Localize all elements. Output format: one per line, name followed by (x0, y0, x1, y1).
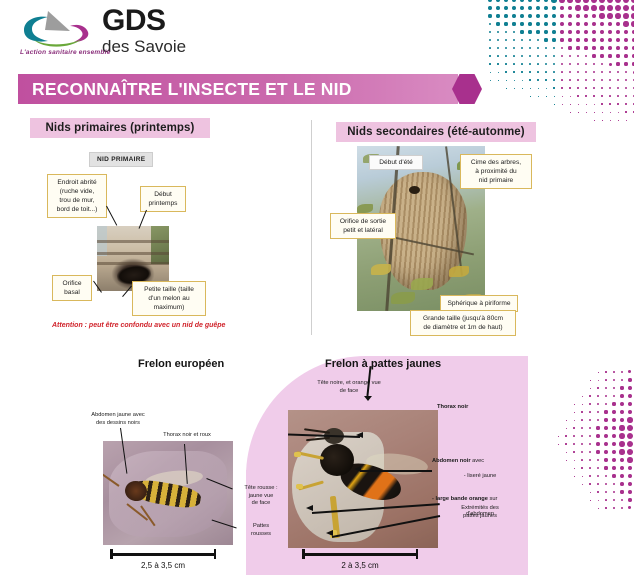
halftone-dot (613, 499, 615, 501)
halftone-dot (553, 87, 554, 88)
arrow-thorax-tip (356, 432, 363, 438)
halftone-dot (601, 71, 604, 74)
halftone-dot (620, 474, 624, 478)
halftone-dot (536, 0, 541, 2)
halftone-dot (612, 410, 616, 414)
halftone-dot (627, 449, 633, 455)
halftone-dot (561, 47, 564, 50)
nest-exit-hole (409, 186, 420, 194)
halftone-dot (585, 55, 588, 58)
halftone-dot (569, 87, 570, 88)
abdomen-bullet-1: - liseré jaune (432, 473, 528, 481)
halftone-dot (618, 112, 619, 113)
halftone-dot (504, 6, 508, 10)
halftone-dot (496, 14, 499, 17)
halftone-dot (497, 55, 499, 57)
halftone-dot (553, 47, 556, 50)
halftone-dot (497, 31, 500, 34)
halftone-dot (528, 22, 532, 26)
halftone-dot (512, 14, 516, 18)
halftone-dot (520, 30, 523, 33)
halftone-dot (568, 14, 573, 19)
halftone-dot (624, 46, 628, 50)
halftone-dot (592, 38, 596, 42)
halftone-dot (592, 14, 597, 19)
halftone-dot (544, 22, 548, 26)
halftone-dot (618, 120, 619, 121)
halftone-dot (600, 54, 603, 57)
halftone-dot (612, 442, 617, 447)
halftone-dot (617, 79, 619, 81)
halftone-dot (581, 435, 583, 437)
halftone-dot (625, 95, 627, 97)
halftone-dot (551, 0, 556, 3)
halftone-dot (605, 379, 607, 381)
halftone-dot (604, 410, 607, 413)
halftone-dot (490, 72, 491, 73)
halftone-dot (498, 72, 499, 73)
halftone-dot (599, 0, 605, 3)
halftone-dot (627, 425, 633, 431)
halftone-dot (537, 55, 539, 57)
halftone-dot (488, 6, 492, 10)
scale-bar-line-asian (302, 553, 418, 556)
callout-lateral-exit-hole: Orifice de sortie petit et latéral (330, 213, 396, 239)
halftone-dot (577, 79, 579, 81)
halftone-dot (489, 39, 491, 41)
halftone-dot (569, 79, 571, 81)
halftone-dot (628, 466, 633, 471)
halftone-dot (569, 55, 572, 58)
halftone-dot (616, 38, 620, 42)
section-heading-asian-hornet: Frelon à pattes jaunes (325, 358, 441, 370)
halftone-dot (625, 103, 626, 104)
halftone-dot (553, 79, 554, 80)
halftone-dot (612, 466, 616, 470)
halftone-dot (624, 30, 629, 35)
halftone-dot (589, 395, 590, 396)
halftone-dot (591, 5, 596, 10)
annotation-head-russet: Tête rousse : jaune vue de face (236, 485, 286, 508)
halftone-dot (568, 30, 572, 34)
halftone-dot (621, 379, 624, 382)
halftone-dot (505, 31, 508, 34)
halftone-dot (613, 483, 616, 486)
halftone-dot (489, 23, 492, 26)
halftone-dot (574, 468, 575, 469)
halftone-dot (513, 55, 515, 57)
halftone-dot (544, 6, 549, 11)
scale-bar-cap-left (110, 549, 113, 559)
halftone-dot (613, 379, 615, 381)
halftone-dot (613, 491, 616, 494)
halftone-dot (545, 71, 547, 73)
halftone-dot (589, 411, 591, 413)
halftone-dot (576, 46, 579, 49)
halftone-dot (498, 80, 499, 81)
halftone-dot (612, 402, 615, 405)
halftone-dot (520, 22, 523, 25)
halftone-dot (609, 103, 610, 104)
abdomen-bullet-2: - large bande orange sur (432, 489, 528, 504)
halftone-dot (609, 71, 612, 74)
halftone-dot (574, 460, 575, 461)
asian-hornet-leg-tip-1 (294, 452, 301, 457)
halftone-dot (589, 403, 590, 404)
halftone-dot (546, 88, 547, 89)
halftone-dot (620, 490, 623, 493)
halftone-dot (545, 55, 547, 57)
halftone-dot (598, 500, 599, 501)
halftone-dot (569, 71, 571, 73)
photo-foliage-patch (151, 226, 169, 264)
halftone-dot (619, 433, 624, 438)
halftone-dot (609, 87, 611, 89)
halftone-dot (591, 0, 597, 3)
halftone-dot (605, 387, 607, 389)
halftone-dot (561, 71, 563, 73)
halftone-dot (544, 0, 549, 2)
halftone-dot (560, 6, 565, 11)
halftone-dot (558, 436, 559, 437)
halftone-dot (560, 22, 564, 26)
halftone-dot (597, 459, 600, 462)
halftone-dot (565, 443, 566, 444)
halftone-dot (605, 491, 607, 493)
halftone-dot (578, 104, 579, 105)
halftone-dot (597, 475, 599, 477)
halftone-dot (552, 22, 556, 26)
halftone-dot (598, 508, 599, 509)
annotation-thorax-black-text: Thorax noir (437, 404, 468, 410)
halftone-dot (576, 38, 580, 42)
halftone-dot (537, 71, 539, 73)
halftone-dot (546, 96, 547, 97)
halftone-dot (552, 14, 556, 18)
halftone-dot (506, 80, 507, 81)
halftone-dot (628, 506, 631, 509)
halftone-dot (612, 418, 616, 422)
annotation-abdomen-yellow: Abdomen jaune avec des dessins noirs (82, 412, 154, 427)
halftone-dot (624, 54, 628, 58)
halftone-dot (552, 6, 557, 11)
halftone-dot (562, 96, 563, 97)
slide-page: GDS des Savoie L'action sanitaire ensemb… (0, 0, 634, 575)
arrow-legtip-tip-1 (306, 505, 313, 511)
halftone-dot (605, 395, 607, 397)
halftone-dot (599, 13, 604, 18)
halftone-dot (561, 87, 562, 88)
halftone-dot (497, 39, 499, 41)
halftone-dot (615, 5, 621, 11)
halftone-dot (505, 71, 506, 72)
halftone-dot (609, 79, 611, 81)
halftone-dot (605, 371, 606, 372)
european-hornet-photo (103, 441, 233, 545)
halftone-dot (605, 475, 608, 478)
halftone-dot (575, 0, 580, 3)
halftone-dot (620, 466, 624, 470)
halftone-dot (552, 38, 555, 41)
halftone-dot (505, 39, 507, 41)
halftone-dot (624, 62, 627, 65)
halftone-dot (604, 466, 607, 469)
halftone-dot (489, 63, 490, 64)
halftone-dot (593, 63, 596, 66)
halftone-dot (628, 402, 633, 407)
halftone-dot (513, 63, 515, 65)
halftone-dot (512, 22, 515, 25)
halftone-dot (613, 395, 616, 398)
halftone-dot (612, 434, 617, 439)
nest-ridge-2 (97, 252, 169, 255)
halftone-dot (558, 444, 559, 445)
halftone-dot (596, 426, 599, 429)
halftone-dot (589, 467, 591, 469)
halftone-dot (520, 0, 525, 2)
halftone-dot (529, 47, 531, 49)
halftone-dot (592, 54, 595, 57)
halftone-dot (599, 5, 604, 10)
halftone-dot (613, 507, 615, 509)
halftone-dot (581, 411, 582, 412)
halftone-dot (521, 39, 524, 42)
leaf-8 (357, 204, 373, 213)
halftone-dot (505, 47, 507, 49)
halftone-dot (600, 38, 604, 42)
halftone-dot (513, 31, 516, 34)
leaf-6 (391, 292, 415, 304)
gds-swoosh-logo-icon (18, 8, 96, 48)
halftone-dot (628, 386, 632, 390)
halftone-dot (625, 71, 628, 74)
nest-ridge-3 (97, 262, 169, 265)
halftone-dot (583, 5, 588, 10)
leader-line-sheltered (106, 206, 117, 226)
halftone-dot (628, 370, 631, 373)
halftone-dot (565, 435, 566, 436)
halftone-dot (610, 112, 611, 113)
halftone-dot (489, 55, 490, 56)
halftone-dot (520, 6, 524, 10)
halftone-dot (621, 499, 624, 502)
halftone-dot (597, 419, 600, 422)
halftone-dot (608, 22, 613, 27)
halftone-dot (512, 0, 516, 2)
halftone-dot (585, 71, 587, 73)
halftone-dot (585, 95, 586, 96)
callout-small-size: Petite taille (taille d'un melon au maxi… (132, 281, 206, 316)
scale-bar-cap-left-asian (302, 549, 305, 559)
halftone-dot (528, 30, 531, 33)
halftone-dot (593, 79, 595, 81)
scale-label-european: 2,5 à 3,5 cm (110, 561, 216, 570)
abdomen-line-main: Abdomen noir avec (432, 451, 528, 466)
halftone-dot (623, 0, 629, 3)
halftone-dot (567, 0, 572, 3)
halftone-dot (585, 63, 588, 66)
halftone-dot (545, 79, 546, 80)
halftone-dot (568, 46, 571, 49)
halftone-dot (623, 5, 629, 11)
halftone-dot (537, 47, 540, 50)
halftone-dot (619, 441, 624, 446)
halftone-dot (581, 443, 583, 445)
halftone-dot (589, 475, 590, 476)
halftone-dot (581, 451, 583, 453)
halftone-dot (605, 507, 606, 508)
halftone-dot (602, 112, 603, 113)
asian-hornet-thorax (320, 444, 354, 476)
arrow-abdomen-line (360, 470, 432, 472)
halftone-dot (570, 96, 571, 97)
halftone-dot (582, 476, 583, 477)
halftone-dot (573, 435, 575, 437)
halftone-dot (616, 54, 619, 57)
badge-nid-primaire: NID PRIMAIRE (89, 152, 153, 167)
scale-label-asian: 2 à 3,5 cm (302, 561, 418, 570)
halftone-dot (589, 427, 592, 430)
halftone-dot (573, 427, 574, 428)
halftone-dot (604, 450, 608, 454)
halftone-dot (616, 62, 619, 65)
halftone-dot (605, 483, 607, 485)
scale-bar-asian (302, 549, 418, 559)
halftone-dot (604, 426, 608, 430)
halftone-dot (607, 13, 612, 18)
halftone-dot (488, 0, 492, 2)
asian-hornet-photo (288, 410, 438, 548)
halftone-dot (577, 55, 580, 58)
halftone-dot (601, 103, 602, 104)
brand-logo: GDS des Savoie L'action sanitaire ensemb… (18, 6, 318, 62)
halftone-dot (544, 14, 548, 18)
leaf-4 (411, 278, 433, 290)
halftone-dot (628, 394, 632, 398)
halftone-dot (600, 46, 604, 50)
halftone-dot (581, 467, 582, 468)
halftone-dot (513, 71, 514, 72)
abdomen-bold-label: Abdomen noir (432, 458, 471, 464)
halftone-dot (605, 499, 607, 501)
leaf-5 (449, 266, 469, 277)
halftone-dot (604, 434, 608, 438)
halftone-dot (617, 71, 620, 74)
halftone-dot (536, 6, 540, 10)
halftone-dot (620, 410, 624, 414)
halftone-dot (529, 79, 530, 80)
halftone-dot (560, 30, 564, 34)
halftone-dot (596, 434, 600, 438)
halftone-dot (612, 458, 616, 462)
halftone-dot (496, 0, 500, 2)
halftone-dot (628, 482, 632, 486)
halftone-dot (601, 63, 604, 66)
halftone-dot (537, 39, 540, 42)
halftone-dot (576, 30, 580, 34)
halftone-dot (522, 88, 523, 89)
halftone-dot (600, 22, 605, 27)
halftone-dot (628, 474, 633, 479)
halftone-dot (489, 47, 491, 49)
halftone-dot (522, 80, 523, 81)
halftone-dot (581, 427, 583, 429)
brand-wordmark: GDS des Savoie (102, 6, 186, 56)
halftone-dot (505, 63, 506, 64)
halftone-dot (537, 63, 539, 65)
halftone-dot (496, 6, 500, 10)
halftone-dot (593, 95, 594, 96)
halftone-dot (628, 378, 631, 381)
halftone-dot (568, 22, 572, 26)
halftone-dot (608, 38, 612, 42)
arrow-abdomen-tip (354, 466, 361, 472)
halftone-dot (513, 39, 516, 42)
halftone-dot (627, 441, 633, 447)
halftone-dot (605, 403, 608, 406)
halftone-dot (601, 95, 602, 96)
halftone-dot (529, 55, 531, 57)
halftone-dot (597, 395, 599, 397)
halftone-dot (585, 87, 587, 89)
halftone-dot (592, 22, 597, 27)
halftone-dot (592, 30, 596, 34)
halftone-dot (560, 38, 563, 41)
halftone-dot (528, 6, 532, 10)
halftone-dots-bottom-right (538, 368, 634, 508)
halftone-dot (608, 46, 612, 50)
halftone-dot (568, 6, 573, 11)
halftone-dot (497, 47, 499, 49)
halftone-dot (604, 442, 608, 446)
halftone-dot (620, 418, 625, 423)
halftone-dot (601, 87, 603, 89)
arrow-legtip-tip-2 (326, 530, 333, 536)
halftone-dot (597, 387, 598, 388)
halftone-dot (581, 459, 583, 461)
abdomen-bullet-2-bold: - large bande orange (432, 496, 488, 502)
halftone-dot (625, 87, 627, 89)
panel-divider (311, 120, 312, 335)
halftone-dot (504, 22, 507, 25)
halftone-dot (596, 442, 600, 446)
halftone-dot (561, 79, 563, 81)
halftone-dot (552, 30, 556, 34)
halftone-dot (626, 120, 627, 121)
halftone-dot (616, 30, 621, 35)
halftone-dot (621, 507, 623, 509)
annotation-head-black-orange: Tête noire, et orange vue de face (296, 380, 402, 395)
halftone-dot (520, 14, 524, 18)
halftone-dot (608, 30, 612, 34)
halftone-dot (566, 452, 567, 453)
halftone-dot (607, 0, 613, 3)
asian-hornet-leg-tip-2 (296, 484, 303, 489)
halftone-dot (592, 46, 595, 49)
halftone-dot (598, 380, 599, 381)
halftone-dot (583, 0, 589, 3)
halftone-dot (568, 38, 571, 41)
halftone-dot (521, 71, 522, 72)
halftone-dot (617, 87, 619, 89)
halftone-dot (597, 403, 599, 405)
halftone-dot (573, 451, 574, 452)
halftone-dot (604, 418, 607, 421)
halftone-dot (625, 111, 626, 112)
halftone-dot (590, 388, 591, 389)
halftone-dot (616, 22, 621, 27)
halftone-dot (623, 13, 628, 18)
